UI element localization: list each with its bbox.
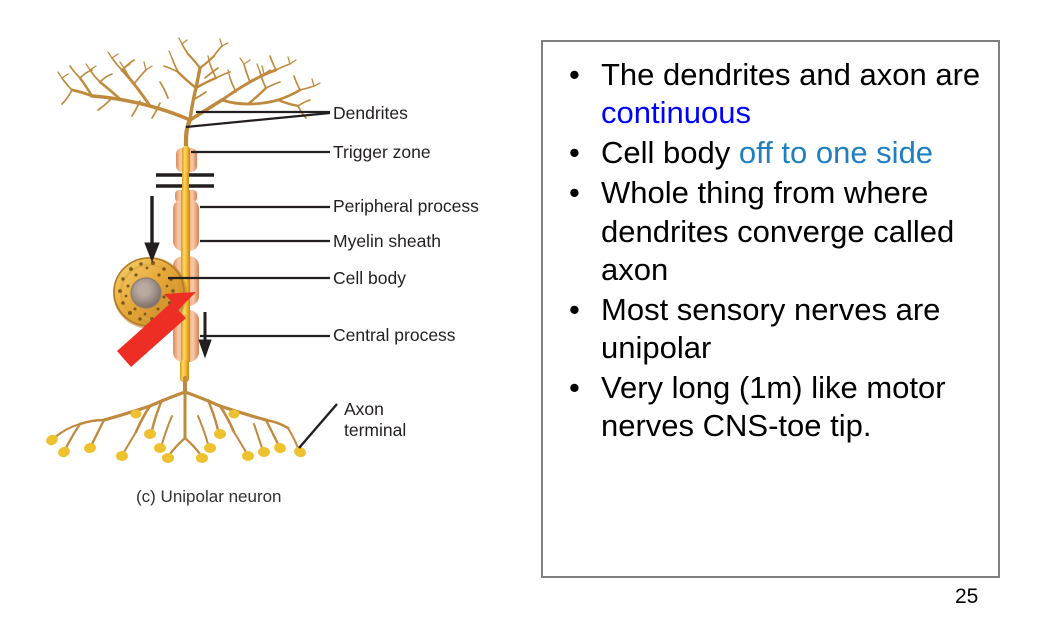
bullet-marker-icon: • (569, 174, 580, 212)
synaptic-bouton-group (44, 410, 307, 464)
bullet-text-segment: Whole thing from where dendrites converg… (601, 175, 954, 286)
axon-terminal-arbor (54, 378, 298, 454)
bullet-item: •Cell body off to one side (555, 134, 988, 172)
bullet-text-segment: Most sensory nerves are unipolar (601, 292, 940, 365)
bullet-marker-icon: • (569, 56, 580, 94)
bullet-text-segment: Very long (1m) like motor nerves CNS-toe… (601, 370, 946, 443)
bullet-item: •Most sensory nerves are unipolar (555, 291, 988, 367)
unipolar-neuron-figure: Dendrites Trigger zone Peripheral proces… (0, 0, 525, 560)
bullet-item: •The dendrites and axon are continuous (555, 56, 988, 132)
bullet-text-segment: continuous (601, 95, 751, 130)
bullet-list: •The dendrites and axon are continuous•C… (555, 56, 988, 445)
dendrite-tree (58, 38, 320, 166)
bullet-text-segment: Cell body (601, 135, 739, 170)
figure-label-myelin-sheath: Myelin sheath (333, 231, 441, 252)
bullet-marker-icon: • (569, 369, 580, 407)
figure-label-peripheral-process: Peripheral process (333, 196, 479, 217)
neuron-diagram-svg (0, 0, 525, 560)
bullet-text-segment: off to one side (739, 135, 933, 170)
axon-terminal-line-2: terminal (344, 420, 406, 440)
figure-label-cell-body: Cell body (333, 268, 406, 289)
axon-terminal-line-1: Axon (344, 399, 384, 419)
slide-canvas: Dendrites Trigger zone Peripheral proces… (0, 0, 1037, 643)
page-number: 25 (955, 585, 978, 609)
bullet-text-box: •The dendrites and axon are continuous•C… (541, 40, 1000, 578)
bullet-item: •Very long (1m) like motor nerves CNS-to… (555, 369, 988, 445)
bullet-text-segment: The dendrites and axon are (601, 57, 980, 92)
bullet-marker-icon: • (569, 134, 580, 172)
figure-caption: (c) Unipolar neuron (136, 487, 282, 507)
figure-label-axon-terminal: Axon terminal (344, 399, 406, 440)
figure-label-trigger-zone: Trigger zone (333, 142, 431, 163)
bullet-item: •Whole thing from where dendrites conver… (555, 174, 988, 288)
bullet-marker-icon: • (569, 291, 580, 329)
figure-label-central-process: Central process (333, 325, 456, 346)
figure-label-dendrites: Dendrites (333, 103, 408, 124)
